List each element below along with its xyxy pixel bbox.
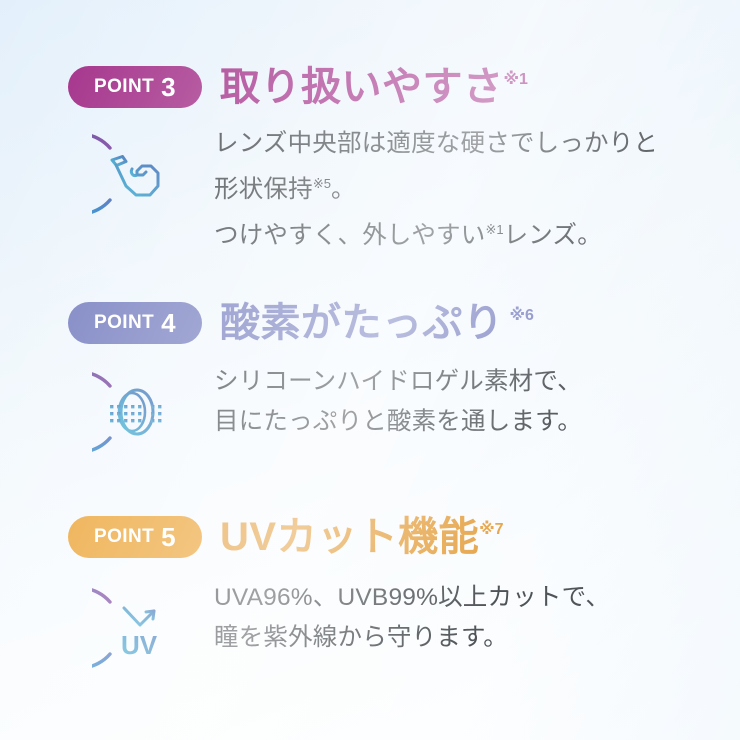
- point-5-headline-text: UVカット機能: [220, 515, 479, 559]
- point-3-badge-number: 3: [161, 74, 176, 100]
- point-4-body: シリコーンハイドロゲル素材で、 目にたっぷりと酸素を通します。: [0, 362, 740, 460]
- point-4-headline-text: 酸素がたっぷり: [220, 301, 504, 345]
- note-mark: ※5: [313, 176, 331, 191]
- point-3-headline-text: 取り扱いやすさ: [220, 65, 504, 109]
- point-4-badge-number: 4: [161, 310, 176, 336]
- note-mark: ※1: [485, 222, 503, 237]
- point-4-headline-note: ※6: [510, 307, 534, 324]
- point-3-badge-word: POINT: [94, 76, 154, 98]
- point-4-headline: 酸素がたっぷり※6: [220, 303, 534, 343]
- point-section-5: POINT 5 UVカット機能※7: [0, 516, 740, 676]
- point-5-body-text: UVA96%、UVB99%以上カットで、 瞳を紫外線から守ります。: [214, 578, 610, 658]
- point-4-body-text: シリコーンハイドロゲル素材で、 目にたっぷりと酸素を通します。: [214, 362, 582, 442]
- point-3-header: POINT 3 取り扱いやすさ※1: [0, 66, 740, 108]
- uv-cut-icon: UV: [92, 580, 188, 676]
- point-5-body-line-1: UVA96%、UVB99%以上カットで、: [214, 578, 610, 618]
- point-5-headline-note: ※7: [479, 521, 503, 538]
- point-4-badge-word: POINT: [94, 312, 154, 334]
- point-3-body-line-2: 形状保持※5。: [214, 164, 658, 210]
- point-5-badge-number: 5: [161, 524, 176, 550]
- point-section-3: POINT 3 取り扱いやすさ※1: [0, 66, 740, 256]
- point-5-header: POINT 5 UVカット機能※7: [0, 516, 740, 558]
- point-5-body: UV UVA96%、UVB99%以上カットで、 瞳を紫外線から守ります。: [0, 578, 740, 676]
- point-3-headline-note: ※1: [504, 71, 528, 88]
- point-5-badge-word: POINT: [94, 526, 154, 548]
- point-4-badge: POINT 4: [68, 302, 202, 344]
- point-5-headline: UVカット機能※7: [220, 517, 504, 557]
- point-3-headline: 取り扱いやすさ※1: [220, 67, 528, 107]
- lens-on-fingertip-icon: [92, 126, 188, 222]
- point-4-header: POINT 4 酸素がたっぷり※6: [0, 302, 740, 344]
- point-5-badge: POINT 5: [68, 516, 202, 558]
- point-3-badge: POINT 3: [68, 66, 202, 108]
- promo-page: POINT 3 取り扱いやすさ※1: [0, 0, 740, 740]
- point-3-body-line-3: つけやすく、外しやすい※1レンズ。: [214, 210, 658, 256]
- uv-icon-label: UV: [121, 630, 158, 660]
- point-section-4: POINT 4 酸素がたっぷり※6: [0, 302, 740, 460]
- point-4-body-line-1: シリコーンハイドロゲル素材で、: [214, 362, 582, 402]
- oxygen-permeable-lens-icon: [92, 364, 188, 460]
- point-4-body-line-2: 目にたっぷりと酸素を通します。: [214, 402, 582, 442]
- point-3-body: レンズ中央部は適度な硬さでしっかりと 形状保持※5。 つけやすく、外しやすい※1…: [0, 124, 740, 256]
- point-5-body-line-2: 瞳を紫外線から守ります。: [214, 618, 610, 658]
- point-3-body-text: レンズ中央部は適度な硬さでしっかりと 形状保持※5。 つけやすく、外しやすい※1…: [214, 124, 658, 256]
- point-3-body-line-1: レンズ中央部は適度な硬さでしっかりと: [214, 124, 658, 164]
